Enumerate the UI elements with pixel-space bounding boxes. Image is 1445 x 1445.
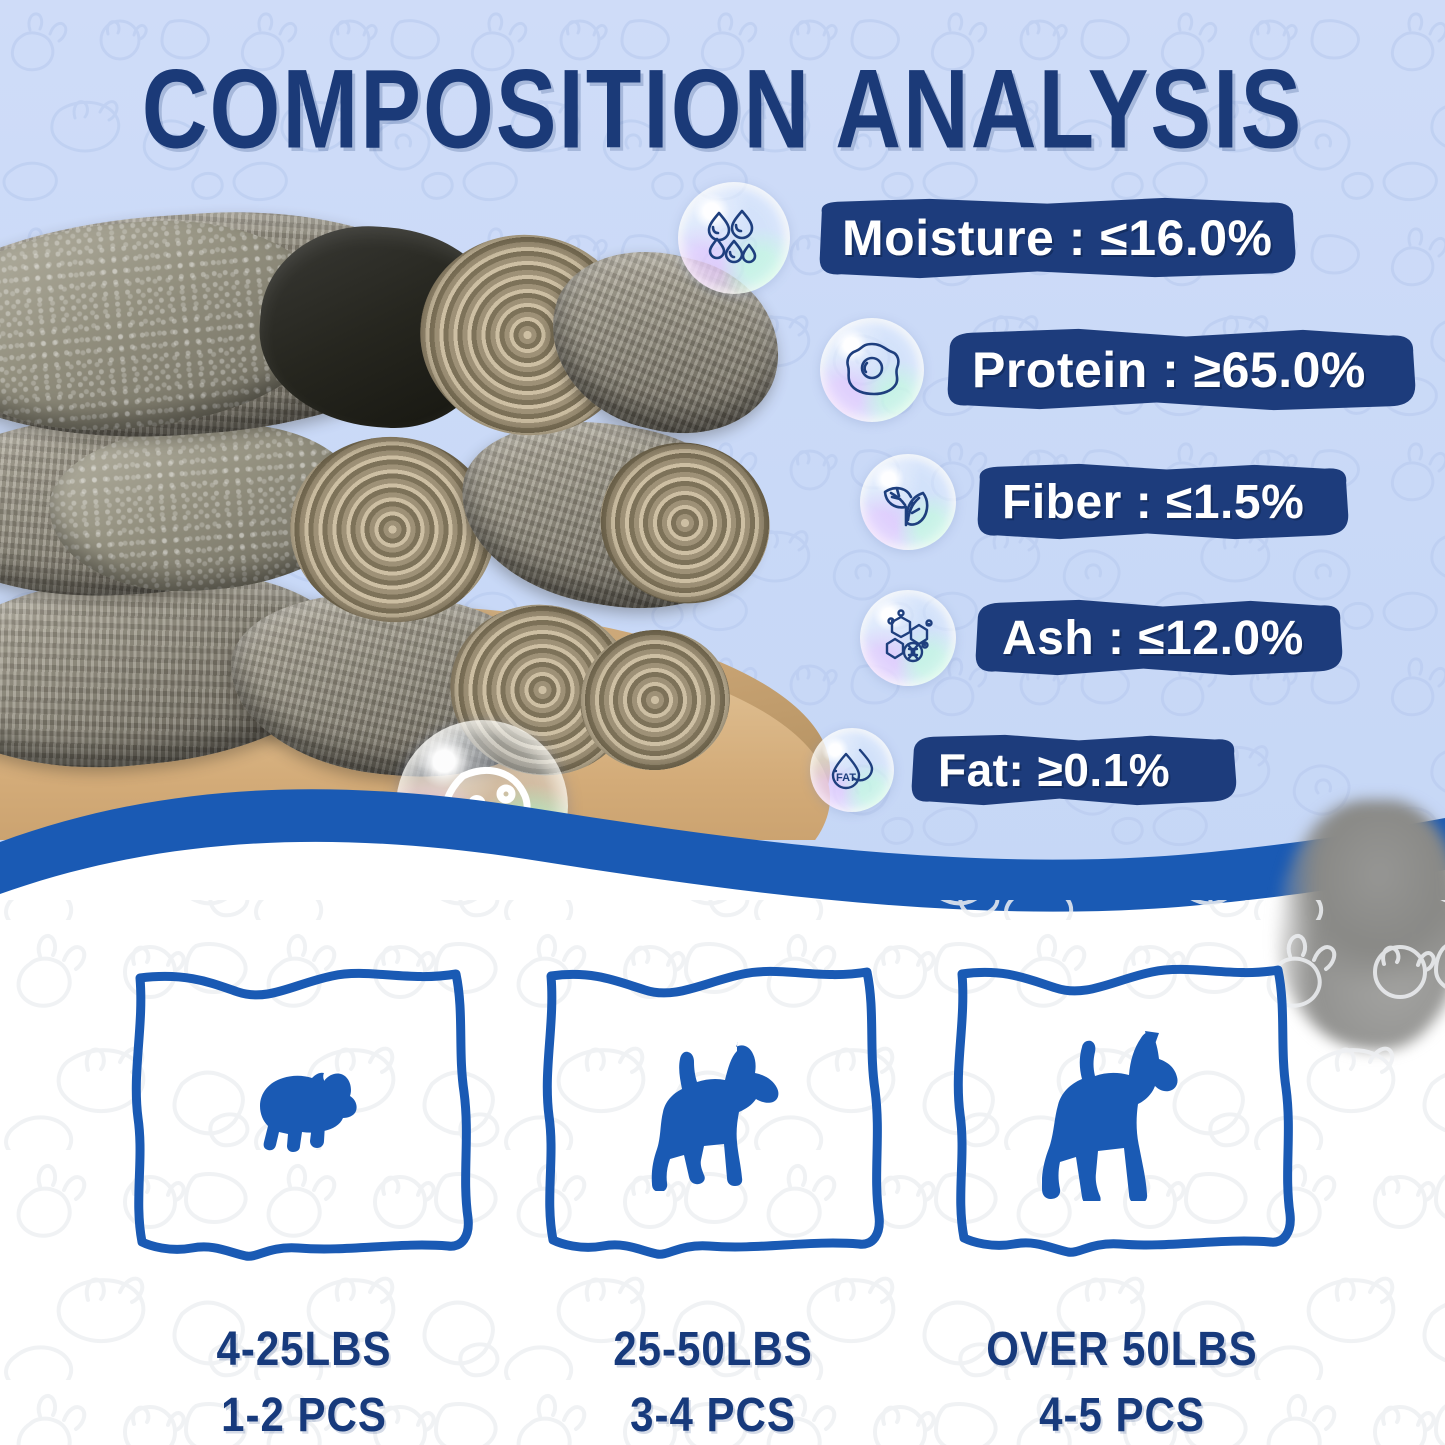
molecule-icon	[860, 590, 956, 686]
nutrient-row-ash: Ash : ≤12.0%	[860, 590, 1346, 686]
nutrient-text-ash: Ash : ≤12.0%	[1002, 611, 1304, 666]
feeding-label-medium: 25-50LBS 3-4 PCS	[527, 1316, 899, 1445]
feeding-weight-small: 4-25LBS	[118, 1316, 490, 1382]
small-dog-icon	[118, 1067, 490, 1163]
feeding-amount-large: 4-5 PCS	[936, 1382, 1308, 1445]
feeding-card-small	[118, 960, 490, 1270]
fried-egg-icon	[820, 318, 924, 422]
nutrient-text-protein: Protein : ≥65.0%	[972, 341, 1366, 399]
wave-divider	[0, 780, 1445, 980]
nutrient-text-fiber: Fiber : ≤1.5%	[1002, 475, 1304, 530]
feeding-weight-large: OVER 50LBS	[936, 1316, 1308, 1382]
feeding-card-medium	[527, 960, 899, 1270]
feeding-amount-medium: 3-4 PCS	[527, 1382, 899, 1445]
feeding-label-large: OVER 50LBS 4-5 PCS	[936, 1316, 1308, 1445]
feeding-amount-small: 1-2 PCS	[118, 1382, 490, 1445]
nutrient-banner-fiber: Fiber : ≤1.5%	[972, 462, 1352, 542]
nutrient-text-fat: Fat: ≥0.1%	[938, 743, 1170, 797]
feeding-weight-medium: 25-50LBS	[527, 1316, 899, 1382]
feeding-label-small: 4-25LBS 1-2 PCS	[118, 1316, 490, 1445]
water-drops-icon	[678, 182, 790, 294]
nutrient-row-moisture: Moisture : ≤16.0%	[678, 182, 1302, 294]
leaf-plant-icon	[860, 454, 956, 550]
nutrient-banner-moisture: Moisture : ≤16.0%	[812, 195, 1302, 281]
nutrient-list: Moisture : ≤16.0% Protein : ≥65.0%	[660, 176, 1390, 866]
feeding-card-large	[936, 960, 1308, 1270]
nutrient-banner-ash: Ash : ≤12.0%	[972, 598, 1346, 678]
nutrient-text-moisture: Moisture : ≤16.0%	[842, 209, 1273, 267]
nutrient-banner-protein: Protein : ≥65.0%	[942, 327, 1420, 413]
nutrient-row-fiber: Fiber : ≤1.5%	[860, 454, 1352, 550]
composition-analysis-poster: COMPOSITION ANALYSIS	[0, 0, 1445, 1445]
large-dog-icon	[936, 1029, 1308, 1201]
page-title: COMPOSITION ANALYSIS	[7, 46, 1438, 174]
nutrient-row-protein: Protein : ≥65.0%	[820, 318, 1420, 422]
medium-dog-icon	[527, 1039, 899, 1191]
